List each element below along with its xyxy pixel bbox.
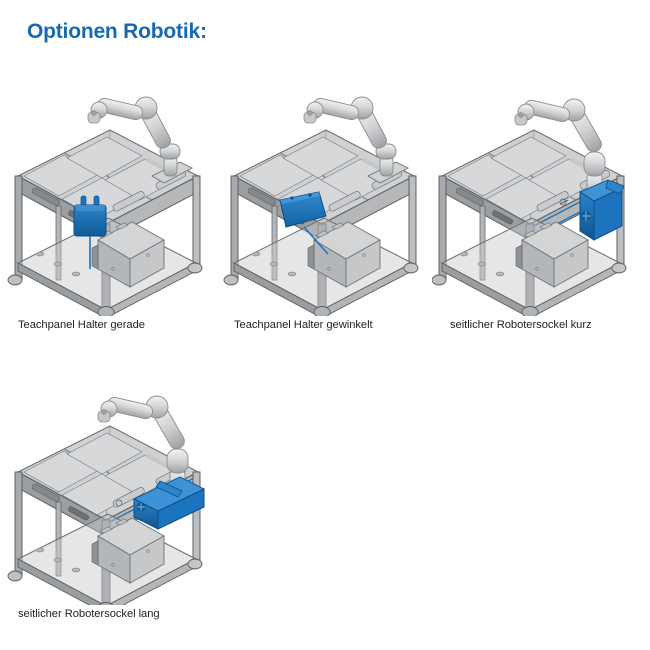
option-caption-teachpanel-halter-gewinkelt: Teachpanel Halter gewinkelt xyxy=(234,318,373,332)
product-illustration-seitlicher-robotersockel-lang xyxy=(0,377,216,605)
option-card-seitlicher-robotersockel-lang[interactable]: seitlicher Robotersockel lang xyxy=(0,377,216,621)
option-card-teachpanel-halter-gewinkelt[interactable]: Teachpanel Halter gewinkelt xyxy=(216,88,432,332)
option-caption-seitlicher-robotersockel-kurz: seitlicher Robotersockel kurz xyxy=(450,318,592,332)
options-grid: Teachpanel Halter gerade xyxy=(0,88,650,621)
page-title: Optionen Robotik: xyxy=(27,20,207,44)
options-row-2: seitlicher Robotersockel lang xyxy=(0,377,650,621)
options-row-1: Teachpanel Halter gerade xyxy=(0,88,650,332)
option-caption-teachpanel-halter-gerade: Teachpanel Halter gerade xyxy=(18,318,145,332)
option-card-seitlicher-robotersockel-kurz[interactable]: seitlicher Robotersockel kurz xyxy=(432,88,648,332)
option-caption-seitlicher-robotersockel-lang: seitlicher Robotersockel lang xyxy=(18,607,160,621)
product-illustration-teachpanel-halter-gerade xyxy=(0,88,216,316)
product-illustration-seitlicher-robotersockel-kurz xyxy=(432,88,648,316)
product-illustration-teachpanel-halter-gewinkelt xyxy=(216,88,432,316)
option-card-teachpanel-halter-gerade[interactable]: Teachpanel Halter gerade xyxy=(0,88,216,332)
